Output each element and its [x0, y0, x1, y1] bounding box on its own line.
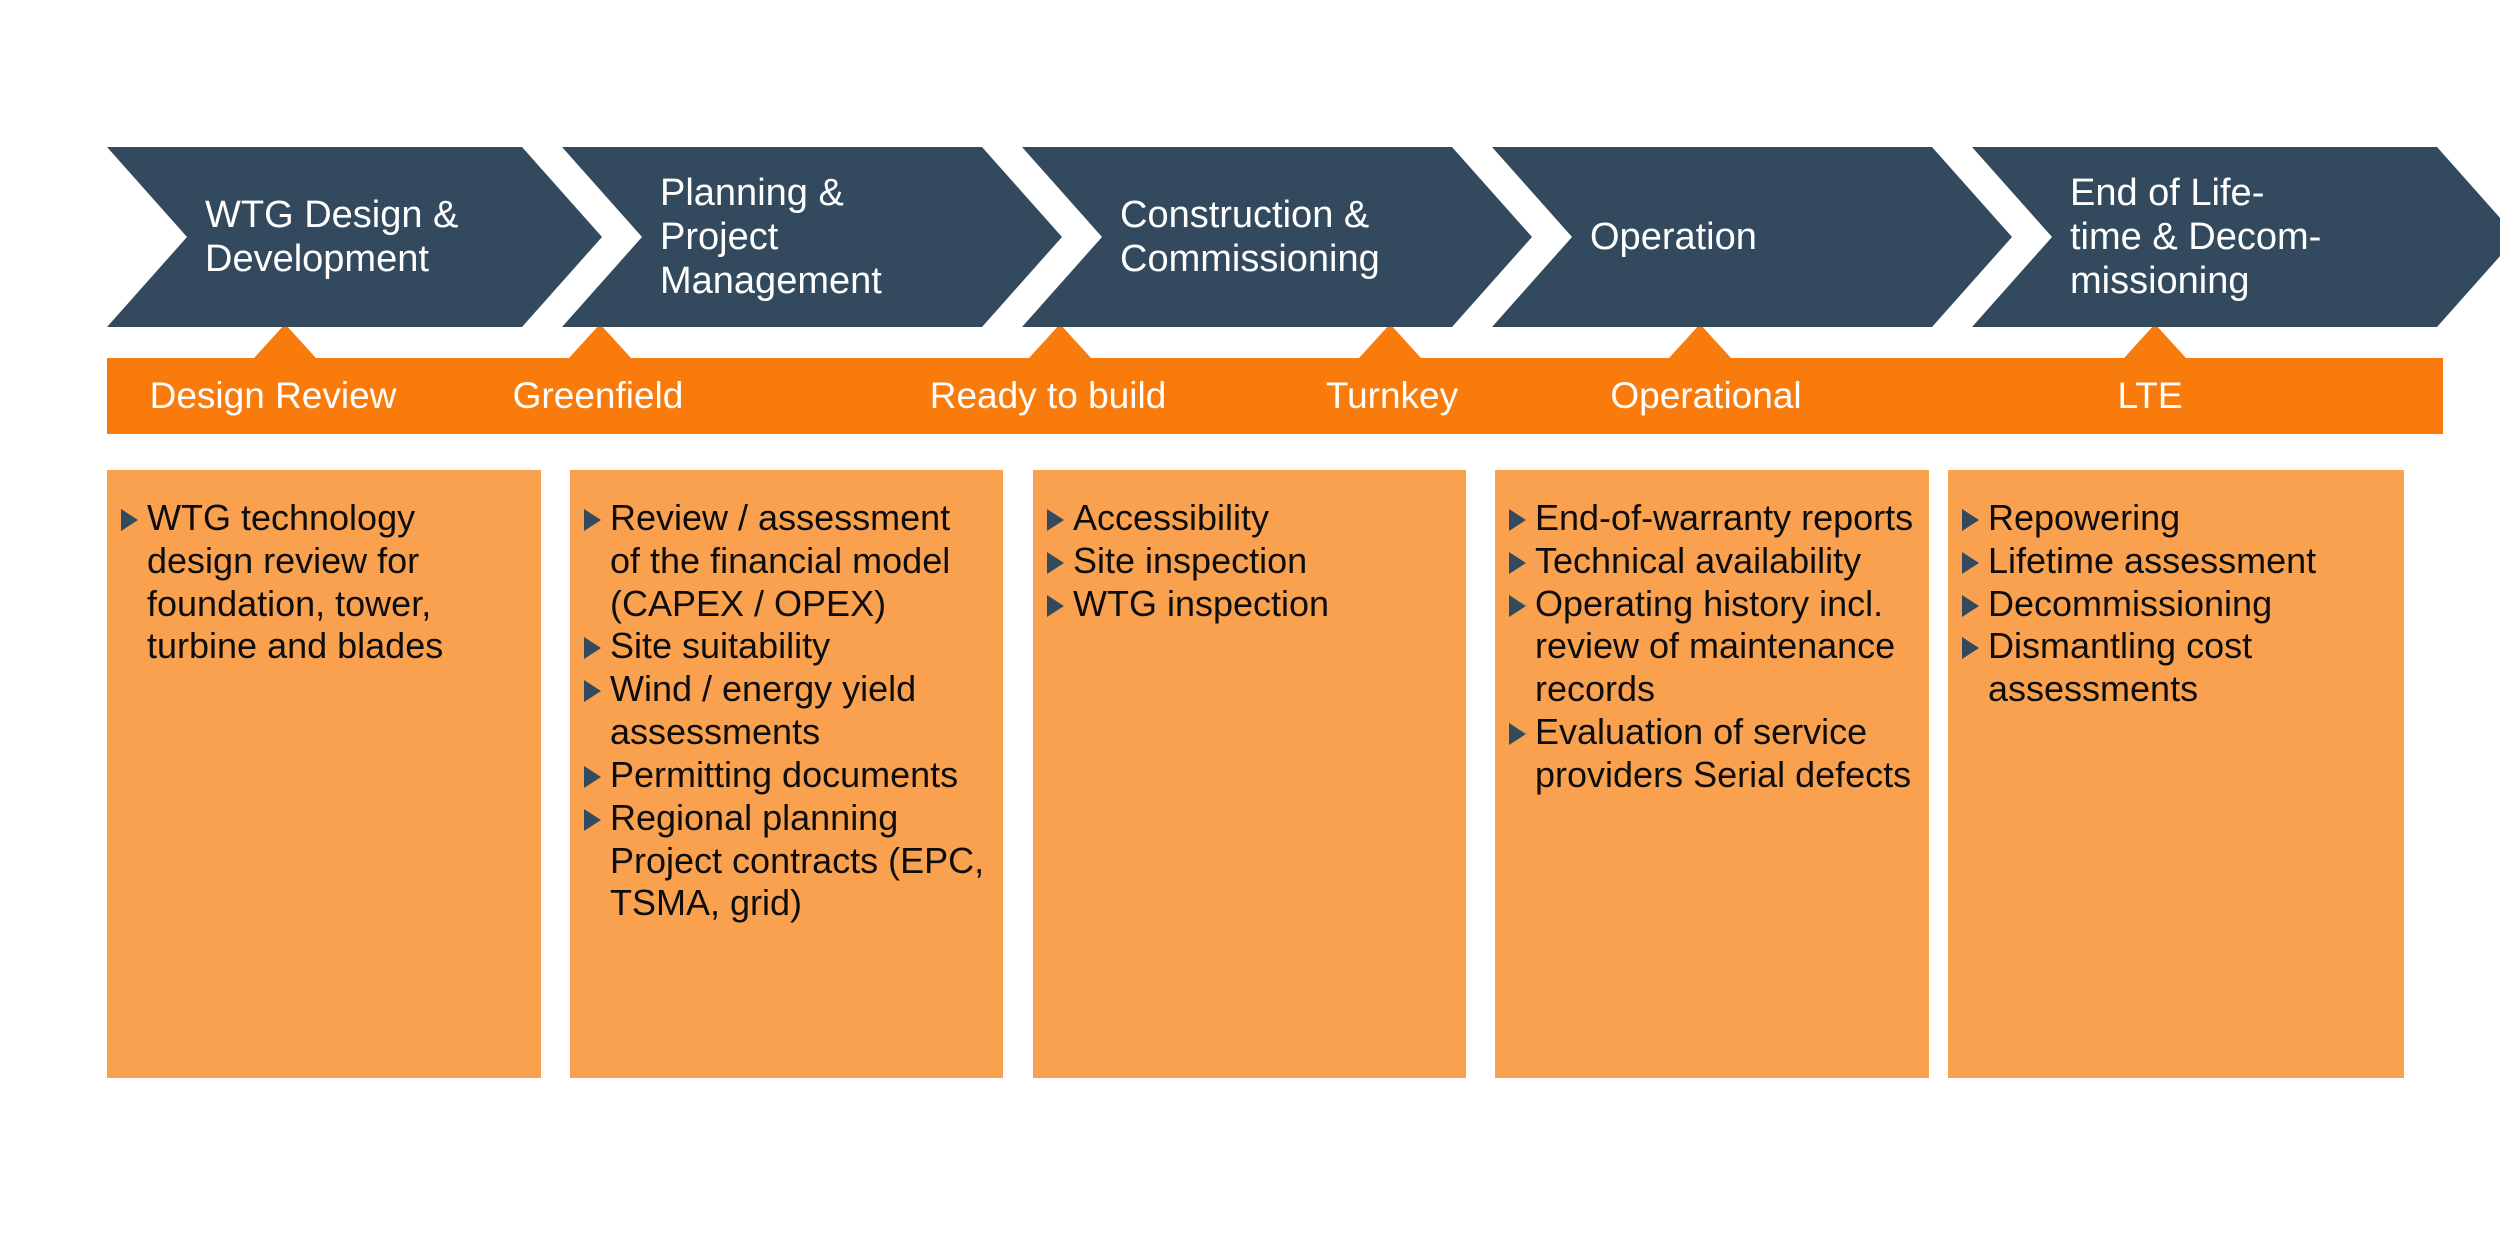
bullet-triangle-icon [1047, 509, 1064, 531]
bullet-triangle-icon [584, 680, 601, 702]
list-item: Regional planning Project contracts (EPC… [584, 797, 989, 925]
list-item-label: End-of-warranty reports [1535, 497, 1915, 540]
bullet-triangle-icon [1509, 595, 1526, 617]
list-item-label: Accessibility [1073, 497, 1452, 540]
milestone-label-6: LTE [2117, 375, 2182, 417]
list-item: Technical availability [1509, 540, 1915, 583]
phase-chevron-4[interactable]: Operation [1492, 147, 2012, 327]
list-item: Wind / energy yield assessments [584, 668, 989, 754]
bullet-triangle-icon [584, 637, 601, 659]
list-item-label: Review / assessment of the financial mod… [610, 497, 989, 625]
list-item: Lifetime assessment [1962, 540, 2390, 583]
bullet-triangle-icon [1509, 723, 1526, 745]
content-box-3: AccessibilitySite inspectionWTG inspecti… [1033, 470, 1466, 1078]
phase-chevron-label: Construction & Commissioning [1120, 193, 1380, 281]
bullet-triangle-icon [1962, 595, 1979, 617]
bullet-triangle-icon [121, 509, 138, 531]
milestone-marker-triangle-3 [1029, 324, 1091, 358]
list-item: Site inspection [1047, 540, 1452, 583]
list-item-label: Site suitability [610, 625, 989, 668]
bullet-triangle-icon [1509, 509, 1526, 531]
phase-chevron-1[interactable]: WTG Design & Development [107, 147, 602, 327]
list-item: Review / assessment of the financial mod… [584, 497, 989, 625]
list-item-label: Permitting documents [610, 754, 989, 797]
list-item: Dismantling cost assessments [1962, 625, 2390, 711]
list-item-label: Wind / energy yield assessments [610, 668, 989, 754]
milestone-marker-triangle-1 [254, 324, 316, 358]
list-item-label: Evaluation of service providers Serial d… [1535, 711, 1915, 797]
milestone-label-4: Turnkey [1326, 375, 1458, 417]
list-item-label: Lifetime assessment [1988, 540, 2390, 583]
phase-chevron-label: Planning & Project Management [660, 171, 882, 303]
milestone-label-3: Ready to build [930, 375, 1167, 417]
list-item: Operating history incl. review of mainte… [1509, 583, 1915, 711]
list-item-label: Dismantling cost assessments [1988, 625, 2390, 711]
list-item: WTG technology design review for foundat… [121, 497, 527, 668]
milestone-marker-triangle-5 [1669, 324, 1731, 358]
milestone-marker-triangle-2 [569, 324, 631, 358]
phase-chevron-row: WTG Design & DevelopmentPlanning & Proje… [107, 147, 2410, 327]
content-box-row: WTG technology design review for foundat… [107, 470, 2410, 1078]
bullet-triangle-icon [1047, 595, 1064, 617]
bullet-triangle-icon [1962, 509, 1979, 531]
content-box-4: End-of-warranty reportsTechnical availab… [1495, 470, 1929, 1078]
list-item: End-of-warranty reports [1509, 497, 1915, 540]
milestone-bar: Design ReviewGreenfieldReady to buildTur… [107, 358, 2443, 434]
milestone-marker-triangle-4 [1359, 324, 1421, 358]
list-item-label: Decommissioning [1988, 583, 2390, 626]
bullet-triangle-icon [1962, 637, 1979, 659]
bullet-triangle-icon [584, 809, 601, 831]
list-item: Repowering [1962, 497, 2390, 540]
bullet-triangle-icon [584, 509, 601, 531]
list-item-label: Operating history incl. review of mainte… [1535, 583, 1915, 711]
phase-chevron-label: Operation [1590, 215, 1757, 259]
list-item: Site suitability [584, 625, 989, 668]
bullet-triangle-icon [1962, 552, 1979, 574]
list-item-label: Technical availability [1535, 540, 1915, 583]
content-box-2: Review / assessment of the financial mod… [570, 470, 1003, 1078]
milestone-marker-triangle-6 [2124, 324, 2186, 358]
milestone-label-2: Greenfield [513, 375, 684, 417]
bullet-triangle-icon [584, 766, 601, 788]
phase-chevron-2[interactable]: Planning & Project Management [562, 147, 1062, 327]
list-item: WTG inspection [1047, 583, 1452, 626]
content-box-5: RepoweringLifetime assessmentDecommissio… [1948, 470, 2404, 1078]
list-item-label: WTG technology design review for foundat… [147, 497, 527, 668]
phase-chevron-label: WTG Design & Development [205, 193, 458, 281]
list-item: Decommissioning [1962, 583, 2390, 626]
phase-chevron-5[interactable]: End of Life- time & Decom- missioning [1972, 147, 2500, 327]
bullet-triangle-icon [1047, 552, 1064, 574]
list-item-label: Repowering [1988, 497, 2390, 540]
milestone-label-1: Design Review [150, 375, 397, 417]
phase-chevron-label: End of Life- time & Decom- missioning [2070, 171, 2321, 303]
bullet-triangle-icon [1509, 552, 1526, 574]
list-item: Evaluation of service providers Serial d… [1509, 711, 1915, 797]
list-item: Permitting documents [584, 754, 989, 797]
list-item-label: Regional planning Project contracts (EPC… [610, 797, 989, 925]
list-item-label: Site inspection [1073, 540, 1452, 583]
milestone-label-5: Operational [1610, 375, 1801, 417]
list-item: Accessibility [1047, 497, 1452, 540]
content-box-1: WTG technology design review for foundat… [107, 470, 541, 1078]
list-item-label: WTG inspection [1073, 583, 1452, 626]
phase-chevron-3[interactable]: Construction & Commissioning [1022, 147, 1532, 327]
